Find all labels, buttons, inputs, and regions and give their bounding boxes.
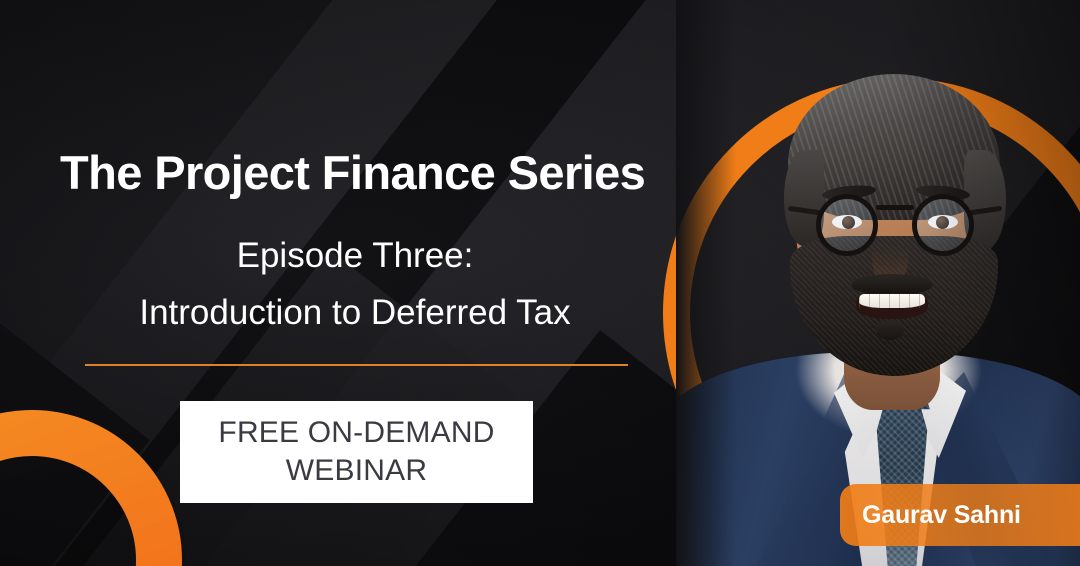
mustache: [852, 274, 932, 294]
speaker-portrait-photo: [676, 0, 1080, 566]
cta-line-2: WEBINAR: [218, 452, 494, 490]
soul-patch: [876, 320, 904, 340]
subtitle: Episode Three: Introduction to Deferred …: [30, 228, 680, 341]
cta-line-1: FREE ON-DEMAND: [218, 414, 494, 452]
eyeglasses-bridge: [876, 205, 914, 210]
speaker-name-badge: Gaurav Sahni: [840, 484, 1080, 546]
page-title: The Project Finance Series: [60, 148, 700, 197]
eyeglasses-lens-left: [816, 194, 878, 256]
eyeglasses-lens-right: [912, 194, 974, 256]
mouth: [856, 293, 928, 319]
cta-text: FREE ON-DEMAND WEBINAR: [218, 414, 494, 491]
subtitle-line-2: Introduction to Deferred Tax: [30, 285, 680, 342]
orange-divider-line: [85, 364, 628, 366]
speaker-portrait: [676, 0, 1080, 566]
speaker-name-label: Gaurav Sahni: [840, 501, 1021, 530]
subtitle-line-1: Episode Three:: [30, 228, 680, 285]
teeth: [859, 294, 925, 308]
webinar-promo-banner: The Project Finance Series Episode Three…: [0, 0, 1080, 566]
cta-badge[interactable]: FREE ON-DEMAND WEBINAR: [180, 401, 533, 503]
